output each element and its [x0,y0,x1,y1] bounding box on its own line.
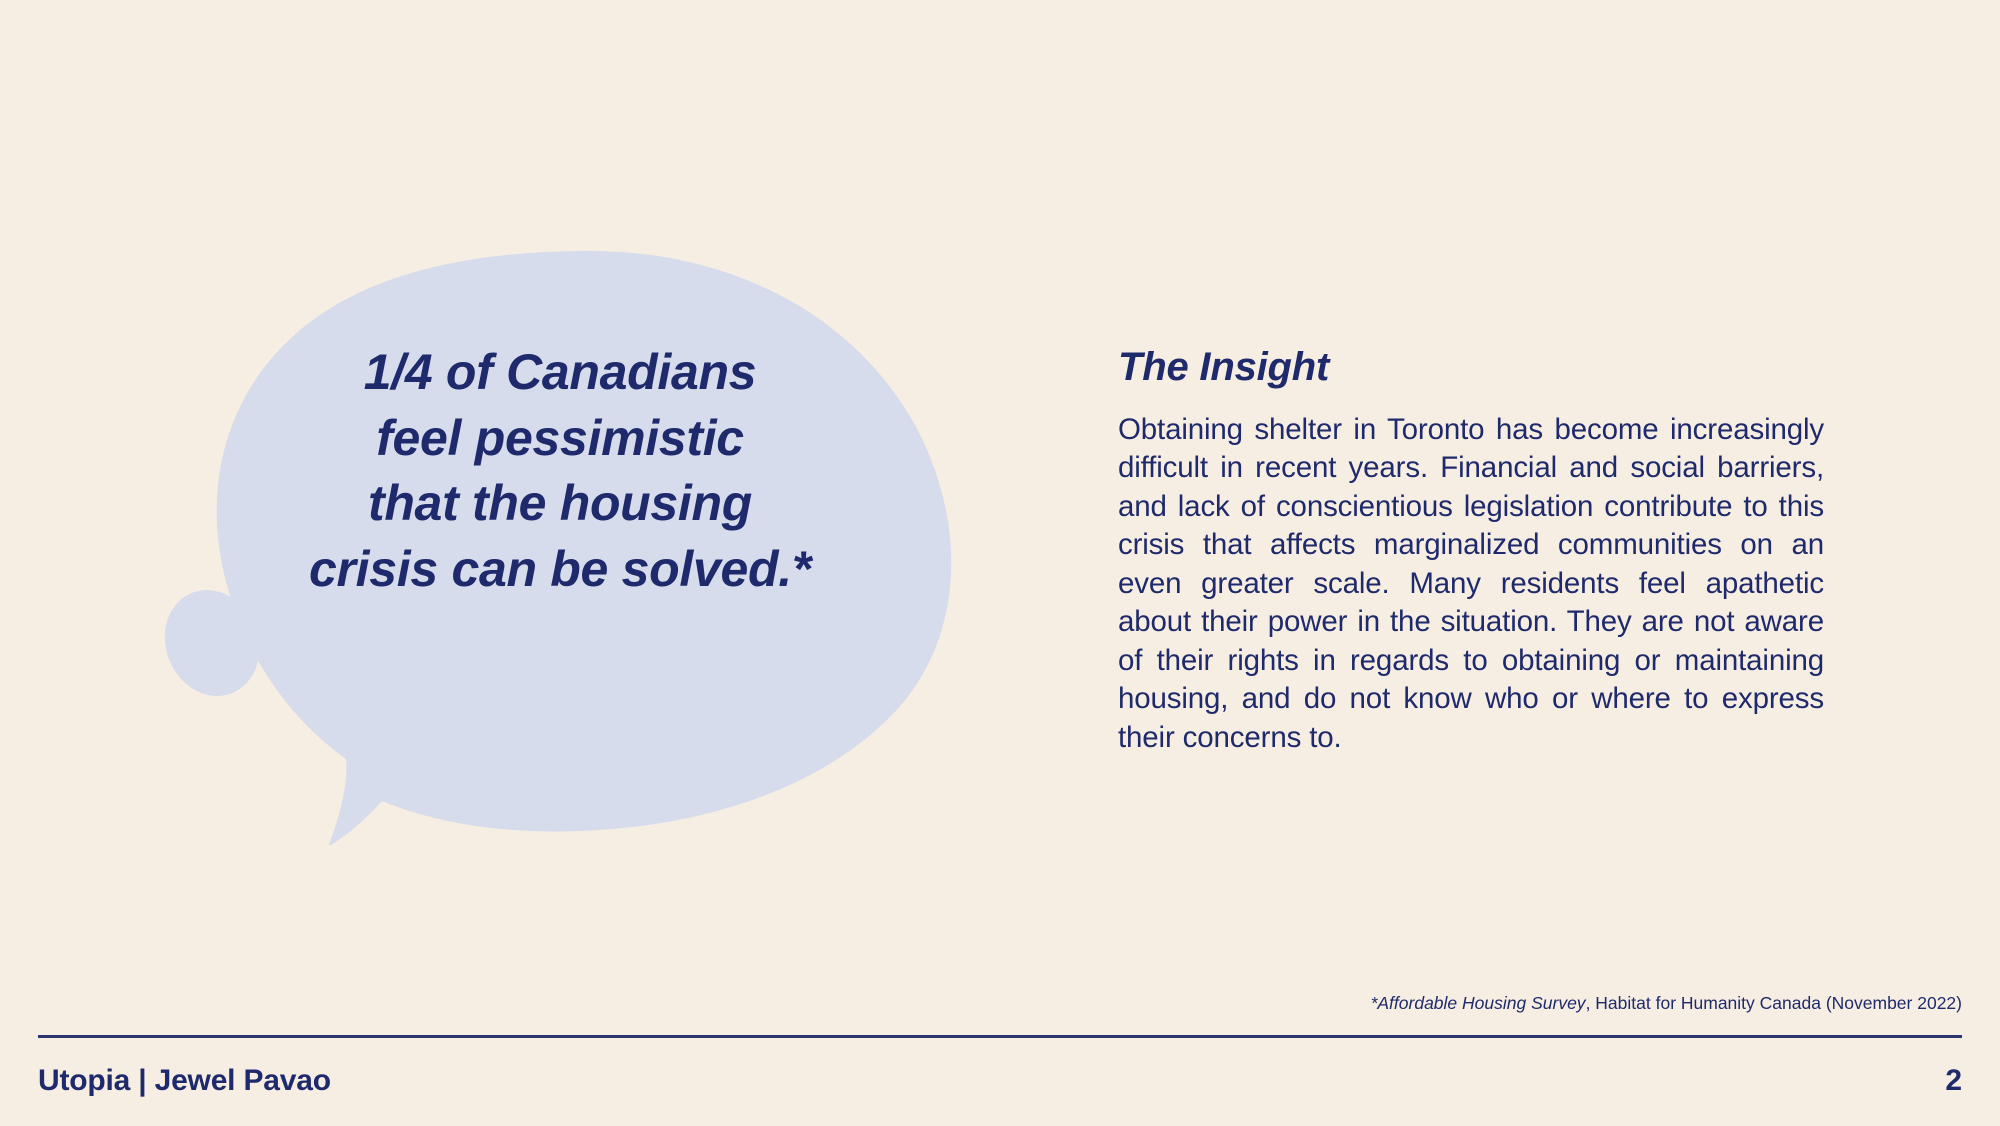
slide-canvas: 1/4 of Canadians feel pessimistic that t… [0,0,2000,1126]
bubble-quote-text: 1/4 of Canadians feel pessimistic that t… [230,340,890,602]
insight-column: The Insight Obtaining shelter in Toronto… [1118,345,1824,757]
source-citation: *Affordable Housing Survey, Habitat for … [762,993,1962,1014]
bubble-quote-line-4: crisis can be solved.* [230,537,890,603]
insight-heading: The Insight [1118,345,1824,389]
footer-divider [38,1035,1962,1038]
speech-bubble-group: 1/4 of Canadians feel pessimistic that t… [150,245,970,845]
bubble-quote-line-1: 1/4 of Canadians [230,340,890,406]
bubble-quote-line-2: feel pessimistic [230,406,890,472]
citation-title: *Affordable Housing Survey [1371,993,1586,1013]
insight-body-paragraph: Obtaining shelter in Toronto has become … [1118,411,1824,757]
slide-footer: Utopia | Jewel Pavao 2 [38,1056,1962,1112]
footer-project-label: Utopia | Jewel Pavao [38,1056,331,1106]
citation-publisher: , Habitat for Humanity Canada (November … [1586,993,1962,1013]
bubble-quote-line-3: that the housing [230,471,890,537]
page-number: 2 [1945,1056,1962,1106]
